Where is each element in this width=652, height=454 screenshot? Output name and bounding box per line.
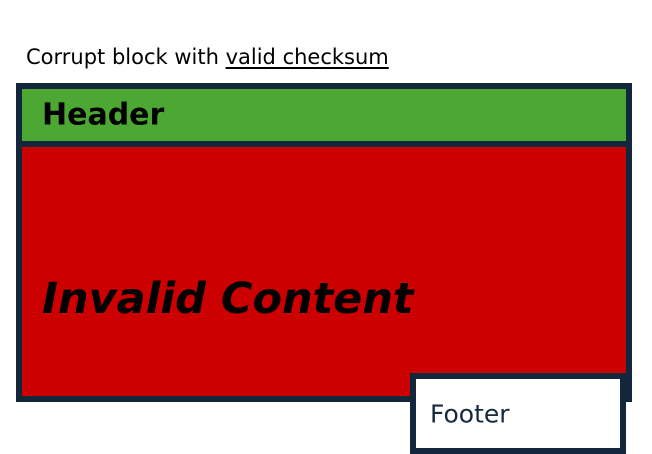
block-footer-label: Footer xyxy=(430,399,510,428)
caption-prefix-text: Corrupt block with xyxy=(26,45,226,69)
block-header-band: Header xyxy=(22,89,626,147)
corrupt-block-container: Header Invalid Content Footer xyxy=(16,83,632,402)
block-content-label: Invalid Content xyxy=(42,274,413,324)
caption-emphasis-text: valid checksum xyxy=(226,45,389,69)
block-content-area: Invalid Content Footer xyxy=(22,147,626,396)
block-footer-box: Footer xyxy=(410,373,626,454)
block-header-label: Header xyxy=(42,98,164,133)
block-caption: Corrupt block with valid checksum xyxy=(26,44,389,70)
